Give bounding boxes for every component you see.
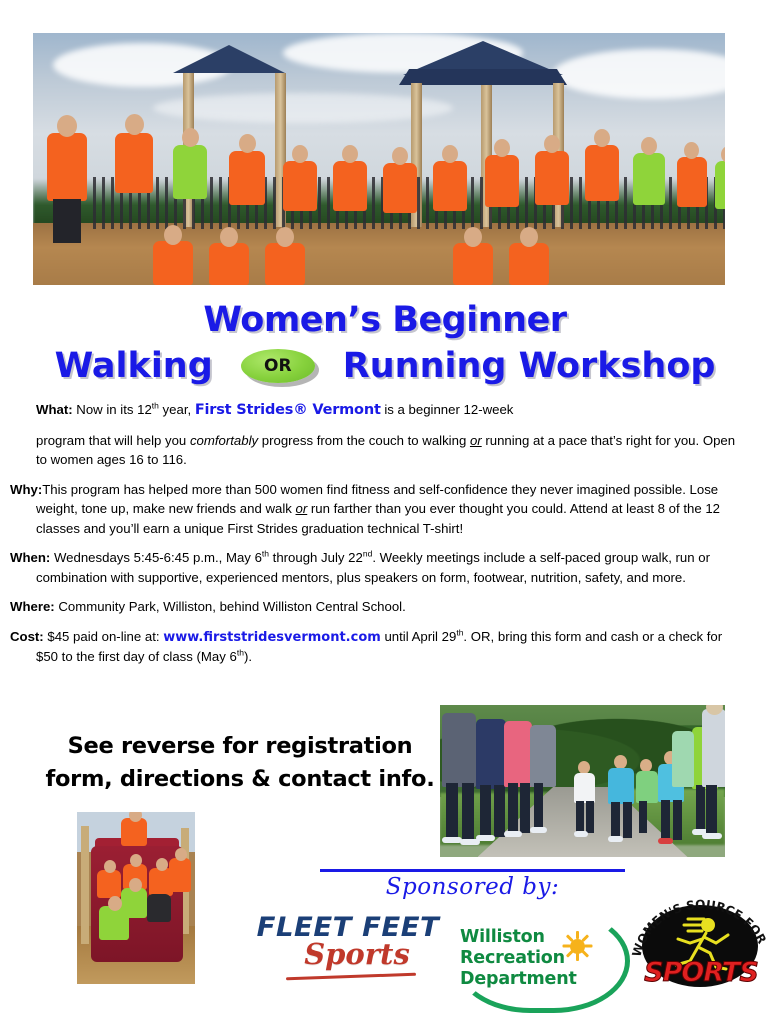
person-head bbox=[392, 147, 408, 165]
person-head bbox=[292, 145, 308, 163]
title-line-1: Women’s Beginner bbox=[0, 300, 770, 340]
shoe bbox=[574, 831, 588, 837]
person-head bbox=[156, 858, 168, 871]
williston-line-2: Recreation bbox=[460, 948, 577, 969]
when-pre: Wednesdays 5:45-6:45 p.m., May 6 bbox=[54, 550, 262, 565]
spectator-leg bbox=[462, 783, 474, 839]
sponsor-divider bbox=[320, 869, 625, 872]
spectator-leg bbox=[520, 783, 530, 833]
spectator bbox=[702, 709, 725, 787]
or-badge: OR bbox=[241, 349, 315, 383]
person-head bbox=[220, 227, 238, 247]
person-head bbox=[57, 115, 77, 137]
what-sup: th bbox=[152, 401, 159, 411]
walker-leg bbox=[673, 800, 682, 840]
williston-line-1: Williston bbox=[460, 927, 577, 948]
walker-leg bbox=[586, 801, 594, 833]
person bbox=[715, 161, 725, 209]
section-where: Where: Community Park, Williston, behind… bbox=[36, 597, 736, 617]
person-head bbox=[175, 848, 187, 861]
what-comfortably: comfortably bbox=[190, 433, 258, 448]
person bbox=[173, 145, 207, 199]
where-label: Where: bbox=[10, 599, 55, 614]
slide-group-photo bbox=[77, 812, 195, 984]
callout-line-2: form, directions & contact info. bbox=[40, 763, 440, 796]
when-sup-1: th bbox=[262, 549, 269, 559]
flyer-title: Women’s Beginner Walking OR Running Work… bbox=[0, 300, 770, 390]
person bbox=[265, 243, 305, 285]
person bbox=[121, 818, 147, 846]
spectator-leg bbox=[446, 783, 458, 839]
person-head bbox=[125, 114, 144, 135]
title-running: Running Workshop bbox=[343, 344, 716, 388]
fleet-feet-sports-script: Sports bbox=[276, 939, 438, 969]
person-head bbox=[130, 854, 142, 867]
title-walking: Walking bbox=[55, 344, 213, 388]
when-text: When: Wednesdays 5:45-6:45 p.m., May 6th… bbox=[36, 548, 736, 587]
spectator bbox=[530, 725, 556, 787]
person bbox=[99, 906, 129, 940]
shoe bbox=[702, 833, 722, 839]
sponsored-by-heading: Sponsored by: bbox=[320, 874, 625, 900]
person-head bbox=[182, 128, 199, 147]
cost-label: Cost: bbox=[10, 629, 44, 644]
body-copy: What: Now in its 12th year, First Stride… bbox=[36, 400, 736, 677]
person-head bbox=[684, 142, 699, 159]
person bbox=[633, 153, 665, 205]
person bbox=[585, 145, 619, 201]
shoe bbox=[504, 831, 522, 837]
fleet-feet-logo: FLEET FEET Sports bbox=[258, 913, 438, 985]
why-or: or bbox=[296, 501, 308, 516]
what-or: or bbox=[470, 433, 482, 448]
shoe bbox=[530, 827, 547, 833]
person-head bbox=[129, 878, 142, 892]
cost-text: Cost: $45 paid on-line at: www.firststri… bbox=[36, 627, 736, 667]
person bbox=[453, 243, 493, 285]
walker bbox=[636, 771, 658, 803]
shoe bbox=[608, 836, 623, 842]
why-label: Why: bbox=[10, 482, 42, 497]
brand-name: First Strides® Vermont bbox=[195, 402, 381, 418]
person-head bbox=[520, 227, 538, 247]
spectator bbox=[476, 719, 506, 789]
person-head bbox=[108, 896, 122, 911]
shoe bbox=[442, 837, 462, 843]
what-line-2: program that will help you comfortably p… bbox=[36, 431, 736, 470]
flyer-page: Women’s Beginner Walking OR Running Work… bbox=[0, 0, 770, 1024]
person-head bbox=[494, 139, 510, 157]
walkers-photo bbox=[440, 705, 725, 857]
person bbox=[485, 155, 519, 207]
registration-url[interactable]: www.firststridesvermont.com bbox=[163, 630, 381, 645]
what-line-1: What: Now in its 12th year, First Stride… bbox=[36, 400, 736, 421]
cost-end: ). bbox=[244, 649, 252, 664]
womens-source-for-sports-logo: WOMEN'S SOURCE FOR SPORTS bbox=[630, 883, 770, 1003]
person bbox=[153, 241, 193, 285]
spectator-leg bbox=[480, 785, 491, 837]
shoe bbox=[658, 838, 673, 844]
person bbox=[677, 157, 707, 207]
section-what: What: Now in its 12th year, First Stride… bbox=[36, 400, 736, 470]
person bbox=[229, 151, 265, 205]
section-why: Why:This program has helped more than 50… bbox=[36, 480, 736, 539]
section-cost: Cost: $45 paid on-line at: www.firststri… bbox=[36, 627, 736, 667]
person bbox=[333, 161, 367, 211]
williston-recreation-logo: Williston Recreation Department bbox=[454, 905, 622, 1005]
walker-leg bbox=[639, 801, 647, 833]
cost-sup-2: th bbox=[237, 648, 244, 658]
why-text: Why:This program has helped more than 50… bbox=[36, 480, 736, 539]
cost-pre: $45 paid on-line at: bbox=[47, 629, 163, 644]
person-head bbox=[276, 227, 294, 247]
person bbox=[169, 858, 191, 892]
walker-leg bbox=[576, 801, 584, 833]
person bbox=[535, 151, 569, 205]
walker-head bbox=[614, 755, 627, 769]
section-when: When: Wednesdays 5:45-6:45 p.m., May 6th… bbox=[36, 548, 736, 587]
spectator-leg bbox=[494, 785, 505, 837]
walker-leg bbox=[611, 802, 620, 838]
spectator bbox=[504, 721, 532, 787]
sun-icon bbox=[562, 931, 592, 961]
fleet-feet-underline bbox=[286, 973, 416, 981]
spectator bbox=[442, 713, 476, 787]
mulch-ground bbox=[33, 223, 725, 285]
playground-roof-band bbox=[399, 69, 567, 85]
spectator-leg bbox=[508, 783, 518, 833]
person bbox=[47, 133, 87, 201]
walker-leg bbox=[623, 802, 632, 838]
walker bbox=[574, 773, 595, 803]
what-mid: year, bbox=[159, 402, 195, 417]
where-value: Community Park, Williston, behind Willis… bbox=[58, 599, 405, 614]
callout-line-1: See reverse for registration bbox=[40, 730, 440, 763]
shoe bbox=[476, 835, 495, 841]
what-l2-mid: progress from the couch to walking bbox=[258, 433, 470, 448]
person-head bbox=[594, 129, 610, 147]
fleet-feet-wordmark: FLEET FEET bbox=[256, 913, 440, 943]
person-head bbox=[641, 137, 657, 155]
sports-wordmark: SPORTS bbox=[636, 957, 766, 988]
what-pre: Now in its 12 bbox=[76, 402, 152, 417]
person-head bbox=[104, 860, 116, 873]
what-l2-pre: program that will help you bbox=[36, 433, 190, 448]
where-text: Where: Community Park, Williston, behind… bbox=[36, 597, 736, 617]
person bbox=[283, 161, 317, 211]
sponsor-logos: FLEET FEET Sports Williston Recreation D… bbox=[258, 905, 770, 1005]
cost-mid: until April 29 bbox=[381, 629, 457, 644]
spectator-leg bbox=[696, 785, 705, 831]
group-photo bbox=[33, 33, 725, 285]
spectator-leg bbox=[534, 783, 543, 829]
when-mid: through July 22 bbox=[269, 550, 363, 565]
person bbox=[115, 133, 153, 193]
person-head bbox=[442, 145, 458, 163]
person bbox=[383, 163, 417, 213]
when-label: When: bbox=[10, 550, 50, 565]
person-legs bbox=[53, 199, 81, 243]
person-head bbox=[342, 145, 358, 163]
see-reverse-callout: See reverse for registration form, direc… bbox=[40, 730, 440, 796]
person bbox=[509, 243, 549, 285]
title-line-2: Walking OR Running Workshop bbox=[0, 342, 770, 390]
walker bbox=[608, 768, 634, 804]
person bbox=[209, 243, 249, 285]
walker-leg bbox=[661, 800, 670, 840]
person bbox=[147, 894, 171, 922]
what-label: What: bbox=[36, 402, 73, 417]
post bbox=[81, 826, 89, 944]
williston-line-3: Department bbox=[460, 969, 577, 990]
spectator bbox=[672, 731, 694, 787]
person-head bbox=[164, 225, 182, 245]
spectator-leg bbox=[706, 785, 717, 835]
person-head bbox=[544, 135, 560, 153]
cloud bbox=[153, 93, 453, 123]
what-post: is a beginner 12-week bbox=[381, 402, 514, 417]
person bbox=[97, 870, 121, 898]
person bbox=[433, 161, 467, 211]
person-head bbox=[464, 227, 482, 247]
person-head bbox=[239, 134, 256, 153]
when-sup-2: nd bbox=[363, 549, 372, 559]
